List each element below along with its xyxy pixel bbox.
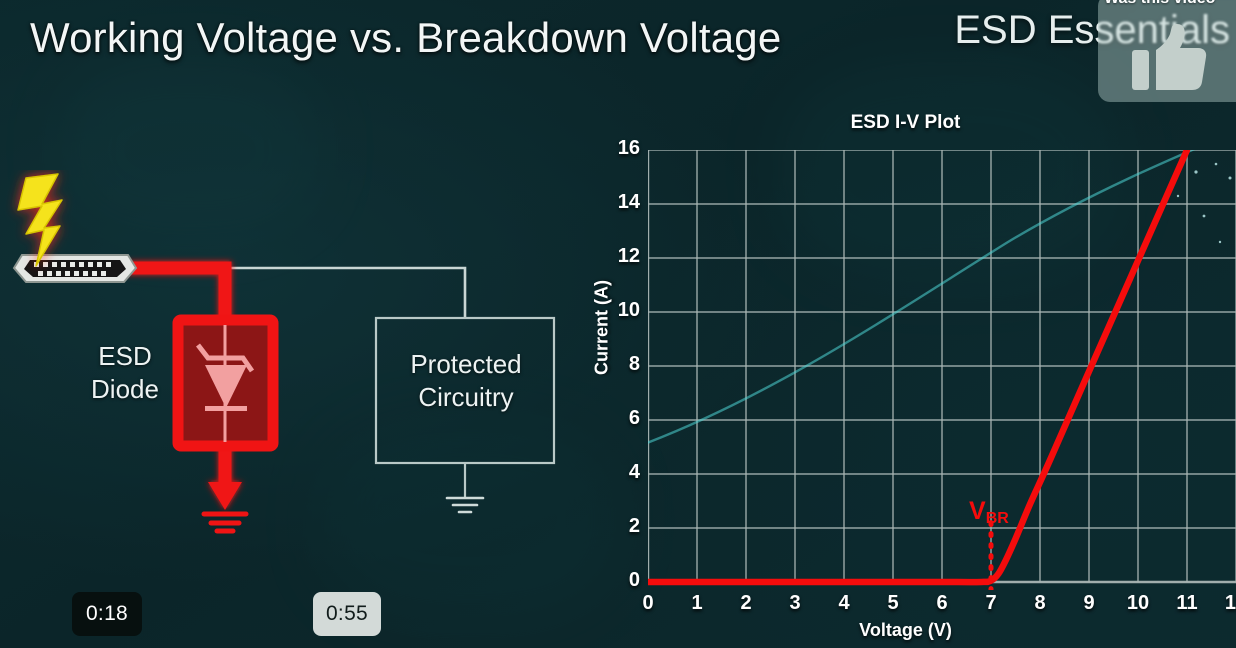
slide-canvas: Working Voltage vs. Breakdown Voltage ES… [0,0,1236,648]
chart-x-tick: 2 [726,592,766,615]
protected-circuitry-label: Protected Circuitry [378,348,554,413]
esd-diode-label-line1: ESD [70,340,180,373]
chart-x-tick: 11 [1167,592,1207,615]
ground-symbol-icon [204,514,246,531]
chart-gridlines [648,150,1236,582]
chart-x-tick: 5 [873,592,913,615]
timestamp-badge-current[interactable]: 0:18 [72,592,142,636]
signal-wire [140,268,465,318]
chart-x-tick: 6 [922,592,962,615]
esd-diode-component [178,320,273,446]
vbr-symbol: V [969,497,986,525]
survey-prompt-text: Was this video [1104,0,1215,8]
chart-x-tick: 12 [1216,592,1236,615]
protected-label-line1: Protected [378,348,554,381]
chart-x-tick: 7 [971,592,1011,615]
esd-diode-label-line2: Diode [70,373,180,406]
ground-symbol-icon [447,498,483,512]
chart-sparkle-dots [1177,163,1232,244]
thumbs-up-icon[interactable] [1132,24,1208,92]
chart-x-tick: 9 [1069,592,1109,615]
chart-x-tick: 1 [677,592,717,615]
chart-x-tick: 0 [628,592,668,615]
chart-x-tick: 10 [1118,592,1158,615]
chart-x-tick: 4 [824,592,864,615]
chart-y-tick: 10 [600,299,640,322]
chart-plot-area [648,150,1236,590]
chart-x-tick: 3 [775,592,815,615]
chart-x-axis-label: Voltage (V) [575,620,1236,641]
protected-label-line2: Circuitry [378,381,554,414]
lightning-bolt-icon [18,174,62,266]
vbr-subscript: BR [986,510,1009,527]
timestamp-badge-other[interactable]: 0:55 [313,592,381,636]
chart-y-tick: 16 [600,137,640,160]
chart-title: ESD I-V Plot [575,112,1236,134]
chart-y-tick: 14 [600,191,640,214]
breakdown-voltage-label: VBR [969,497,1009,528]
survey-overlay-card[interactable]: Was this video [1098,0,1236,102]
chart-y-tick: 0 [600,569,640,592]
chart-y-tick: 4 [600,461,640,484]
hdmi-connector-icon [14,255,136,282]
esd-iv-chart: ESD I-V Plot Current (A) Voltage (V) 024… [575,112,1236,648]
page-title: Working Voltage vs. Breakdown Voltage [30,14,781,62]
chart-y-tick: 12 [600,245,640,268]
esd-diode-label: ESD Diode [70,340,180,405]
chart-x-tick: 8 [1020,592,1060,615]
circuit-diagram: ESD Diode Protected Circuitry [0,170,600,540]
chart-y-tick: 8 [600,353,640,376]
chart-y-tick: 6 [600,407,640,430]
chart-y-tick: 2 [600,515,640,538]
